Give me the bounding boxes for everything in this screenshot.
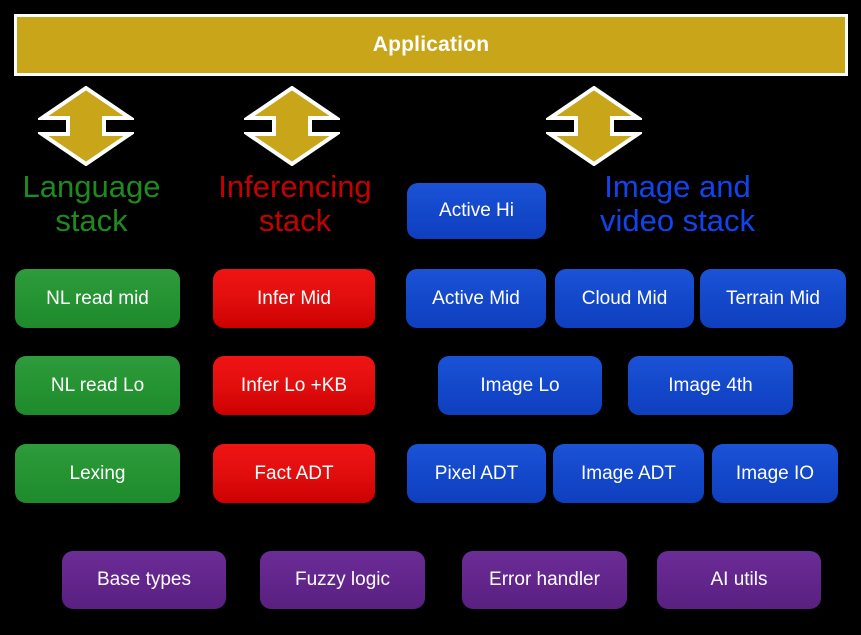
module-box-pixel-adt[interactable]: Pixel ADT [407,444,546,503]
double-arrow-language-icon [38,86,134,166]
module-box-fuzzy-logic[interactable]: Fuzzy logic [260,551,425,609]
module-box-label: Terrain Mid [726,288,820,310]
module-box-label: Image 4th [668,375,753,397]
module-box-image-adt[interactable]: Image ADT [553,444,704,503]
module-box-base-types[interactable]: Base types [62,551,226,609]
module-box-fact-adt[interactable]: Fact ADT [213,444,375,503]
double-arrow-inferencing-icon [244,86,340,166]
module-box-nl-read-lo[interactable]: NL read Lo [15,356,180,415]
module-box-active-hi[interactable]: Active Hi [407,183,546,239]
module-box-label: Image IO [736,463,814,485]
application-bar-label: Application [373,33,490,57]
module-box-label: Image ADT [581,463,676,485]
module-box-label: Base types [97,569,191,591]
module-box-lexing[interactable]: Lexing [15,444,180,503]
double-arrow-image-video-icon [546,86,642,166]
stack-title-inferencing: Inferencing stack [205,170,385,238]
module-box-label: Fact ADT [254,463,333,485]
module-box-ai-utils[interactable]: AI utils [657,551,821,609]
module-box-label: Pixel ADT [435,463,518,485]
module-box-label: Active Mid [432,288,520,310]
module-box-nl-read-mid[interactable]: NL read mid [15,269,180,328]
module-box-cloud-mid[interactable]: Cloud Mid [555,269,694,328]
module-box-label: Cloud Mid [582,288,668,310]
module-box-image-lo[interactable]: Image Lo [438,356,602,415]
module-box-label: NL read Lo [51,375,144,397]
module-box-label: AI utils [710,569,767,591]
module-box-label: Fuzzy logic [295,569,390,591]
stack-title-image-video: Image and video stack [570,170,785,238]
module-box-label: Lexing [70,463,126,485]
module-box-error-handler[interactable]: Error handler [462,551,627,609]
diagram-canvas: Application Language stack Inferencing s… [0,0,861,635]
module-box-terrain-mid[interactable]: Terrain Mid [700,269,846,328]
module-box-infer-mid[interactable]: Infer Mid [213,269,375,328]
module-box-label: Infer Lo +KB [241,375,347,397]
module-box-label: Infer Mid [257,288,331,310]
module-box-label: Active Hi [439,200,514,222]
module-box-active-mid[interactable]: Active Mid [406,269,546,328]
module-box-label: Image Lo [480,375,559,397]
application-bar[interactable]: Application [14,14,848,76]
module-box-infer-lo-kb[interactable]: Infer Lo +KB [213,356,375,415]
module-box-image-4th[interactable]: Image 4th [628,356,793,415]
module-box-label: NL read mid [46,288,149,310]
stack-title-language: Language stack [4,170,179,238]
module-box-label: Error handler [489,569,600,591]
module-box-image-io[interactable]: Image IO [712,444,838,503]
